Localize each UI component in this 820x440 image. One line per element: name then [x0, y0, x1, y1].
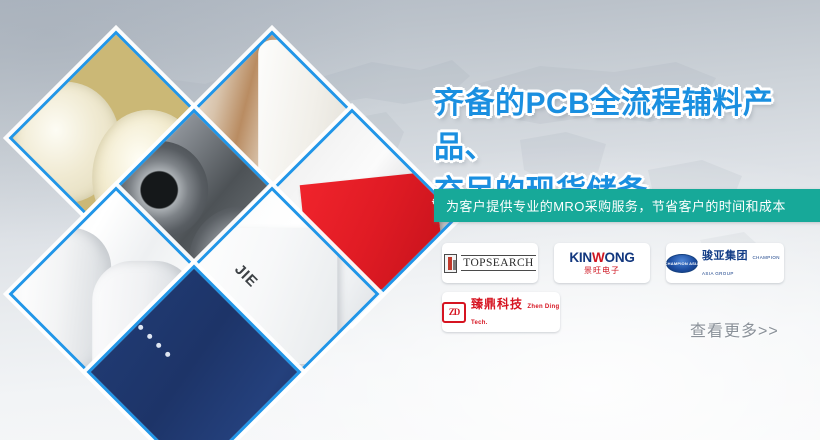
- logo-row-1: TOPSEARCH KINWONG 景旺电子 CHAMPION ASIA: [442, 243, 820, 283]
- champion-asia-globe-text: CHAMPION ASIA: [666, 261, 699, 266]
- kinwong-part2: W: [592, 250, 605, 265]
- headline-line-1: 齐备的PCB全流程辅料产品、: [434, 87, 773, 164]
- topsearch-wordmark: TOPSEARCH: [461, 255, 536, 271]
- logo-kinwong[interactable]: KINWONG 景旺电子: [554, 243, 650, 283]
- logo-zhending[interactable]: ZD 臻鼎科技 Zhen Ding Tech.: [442, 292, 560, 332]
- zhending-mark-icon: ZD: [442, 302, 466, 323]
- topsearch-mark-icon: [444, 254, 457, 273]
- kinwong-wordmark: KINWONG: [569, 251, 634, 265]
- kinwong-chinese-name: 景旺电子: [569, 267, 634, 275]
- promo-banner: JIE 齐备的PCB全流程辅料产品、 充足的现货储备 为客户提供专业的MRO采购…: [0, 0, 820, 440]
- zhending-chinese-name: 臻鼎科技: [471, 297, 523, 311]
- logo-topsearch[interactable]: TOPSEARCH: [442, 243, 538, 283]
- logo-champion-asia[interactable]: CHAMPION ASIA 骏亚集团 CHAMPION ASIA GROUP: [666, 243, 784, 283]
- view-more-link[interactable]: 查看更多>>: [690, 317, 779, 341]
- champion-asia-globe-icon: CHAMPION ASIA: [666, 254, 698, 273]
- kinwong-part1: KIN: [569, 250, 592, 265]
- kinwong-part3: ONG: [605, 250, 635, 265]
- banner-subtitle-text: 为客户提供专业的MRO采购服务，节省客户的时间和成本: [434, 196, 786, 215]
- banner-content: 齐备的PCB全流程辅料产品、 充足的现货储备 为客户提供专业的MRO采购服务，节…: [420, 0, 820, 440]
- champion-asia-chinese-name: 骏亚集团: [702, 250, 748, 262]
- product-photo-collage: JIE: [0, 0, 470, 440]
- banner-subtitle-bar: 为客户提供专业的MRO采购服务，节省客户的时间和成本: [434, 189, 820, 222]
